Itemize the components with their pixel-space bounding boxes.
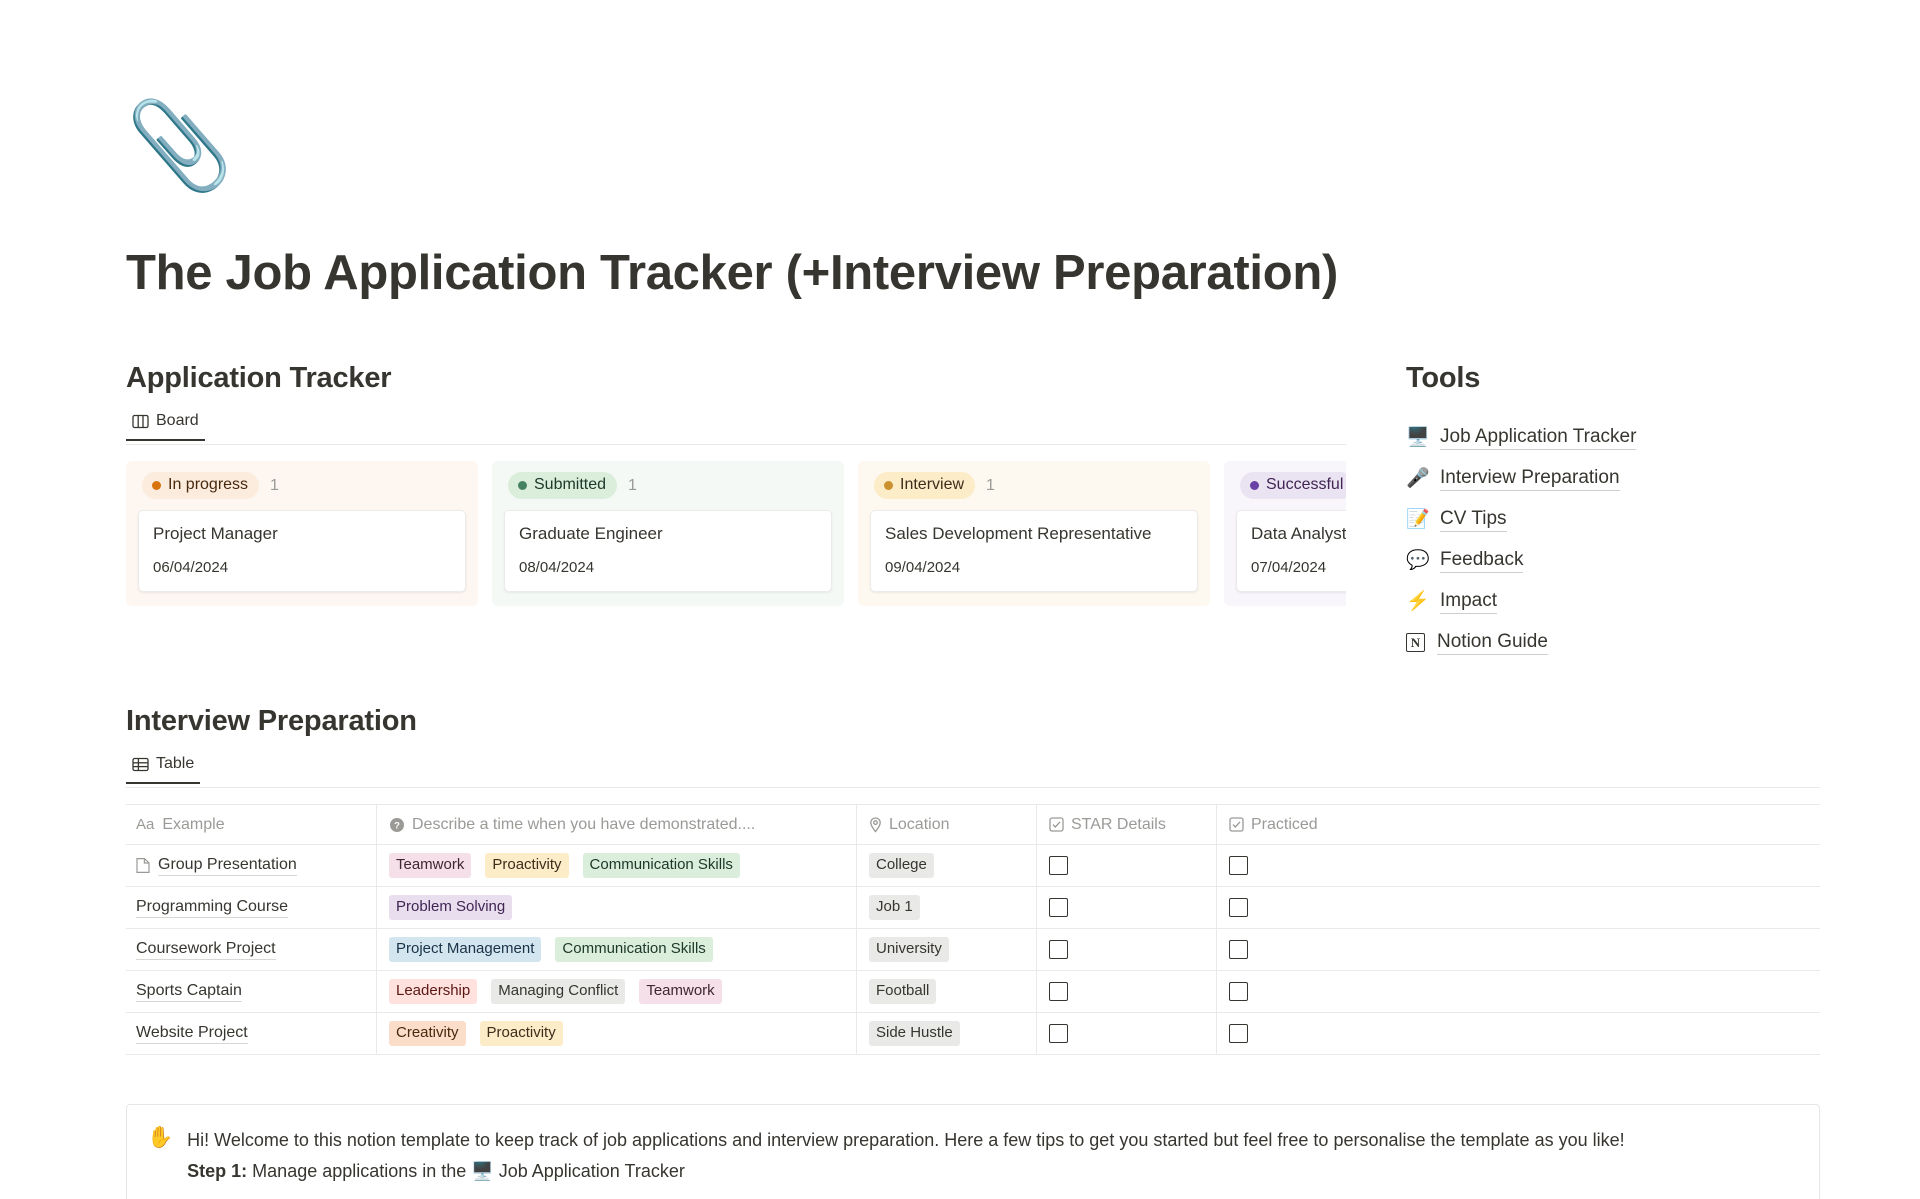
cell-star-details[interactable] [1036,887,1216,928]
speech-balloon-icon: 💬 [1406,551,1428,570]
column-header-describe-label: Describe a time when you have demonstrat… [412,816,755,834]
tab-table-label: Table [156,755,194,773]
table-row[interactable]: Website ProjectCreativityProactivitySide… [126,1013,1820,1055]
status-label: Successful [1266,475,1343,495]
cell-describe-tags[interactable]: LeadershipManaging ConflictTeamwork [376,971,856,1012]
lightning-icon: ⚡ [1406,592,1428,611]
tool-link-label: CV Tips [1440,508,1507,532]
interview-preparation-heading: Interview Preparation [126,705,1820,738]
checkbox[interactable] [1049,982,1068,1001]
location-tag: College [869,853,934,878]
interview-preparation-section: Interview Preparation Table Aa [126,705,1820,1055]
skill-tag: Teamwork [639,979,721,1004]
location-pin-icon [869,817,882,833]
status-badge: Interview [874,472,975,499]
cell-location[interactable]: College [856,845,1036,886]
application-tracker-heading: Application Tracker [126,362,1346,395]
skill-tag: Proactivity [480,1021,563,1046]
board-column[interactable]: In progress1Project Manager06/04/2024 [126,461,478,606]
checkbox[interactable] [1229,898,1248,917]
table-body: Group PresentationTeamworkProactivityCom… [126,845,1820,1055]
callout-text: Hi! Welcome to this notion template to k… [187,1125,1624,1187]
status-label: In progress [168,475,248,495]
cell-location[interactable]: University [856,929,1036,970]
interview-prep-table: Aa Example ? Describe a time when you ha… [126,804,1820,1055]
callout-step-line: Step 1: Manage applications in the 🖥️ Jo… [187,1156,1624,1187]
cell-describe-tags[interactable]: CreativityProactivity [376,1013,856,1054]
table-row[interactable]: Sports CaptainLeadershipManaging Conflic… [126,971,1820,1013]
status-dot-icon [152,481,161,490]
board-card-date: 09/04/2024 [885,559,1183,576]
column-header-location[interactable]: Location [856,805,1036,844]
tab-board-label: Board [156,412,199,430]
tools-section: Tools 🖥️Job Application Tracker🎤Intervie… [1406,362,1846,663]
tool-link-label: Impact [1440,590,1497,614]
board-column-count: 1 [628,477,637,495]
cell-example-label: Group Presentation [158,856,297,876]
cell-describe-tags[interactable]: TeamworkProactivityCommunication Skills [376,845,856,886]
callout-step-label: Step 1: [187,1161,247,1181]
column-header-location-label: Location [889,816,950,834]
cell-example[interactable]: Group Presentation [126,856,376,876]
cell-example[interactable]: Sports Captain [126,982,376,1002]
board-icon [132,414,149,429]
checkbox[interactable] [1049,856,1068,875]
tool-link-interview-preparation[interactable]: 🎤Interview Preparation [1406,458,1846,499]
checkbox[interactable] [1229,1024,1248,1043]
callout-paragraph: Hi! Welcome to this notion template to k… [187,1125,1624,1156]
checkbox[interactable] [1229,940,1248,959]
skill-tag: Communication Skills [555,937,712,962]
tool-link-notion-guide[interactable]: NNotion Guide [1406,622,1846,663]
checkbox-property-icon [1229,817,1244,832]
board-card[interactable]: Project Manager06/04/2024 [138,510,466,592]
board-card[interactable]: Sales Development Representative09/04/20… [870,510,1198,592]
raised-hand-icon: ✋ [147,1125,173,1187]
status-badge: Successful [1240,472,1346,499]
document-icon [136,857,150,874]
page-icon-paperclip-icon[interactable]: 📎 [126,103,233,189]
cell-describe-tags[interactable]: Problem Solving [376,887,856,928]
cell-example-label: Website Project [136,1024,248,1044]
board-column[interactable]: SuccessfulData Analyst07/04/2024 [1224,461,1346,606]
cell-practiced[interactable] [1216,1013,1820,1054]
tool-link-impact[interactable]: ⚡Impact [1406,581,1846,622]
column-header-example-label: Example [162,816,224,834]
checkbox[interactable] [1049,1024,1068,1043]
welcome-callout: ✋ Hi! Welcome to this notion template to… [126,1104,1820,1199]
column-header-example[interactable]: Aa Example [126,805,376,844]
cell-example-label: Sports Captain [136,982,242,1002]
microphone-icon: 🎤 [1406,469,1428,488]
status-badge: Submitted [508,472,617,499]
board-card-date: 07/04/2024 [1251,559,1346,576]
tab-board[interactable]: Board [126,412,205,441]
status-label: Interview [900,475,964,495]
column-header-practiced-label: Practiced [1251,816,1318,834]
tool-link-label: Job Application Tracker [1440,426,1636,450]
checkbox[interactable] [1229,856,1248,875]
svg-text:?: ? [394,820,400,831]
board-card-title: Graduate Engineer [519,523,817,545]
memo-icon: 📝 [1406,510,1428,529]
location-tag: Job 1 [869,895,920,920]
location-tag: Side Hustle [869,1021,960,1046]
cell-example-label: Programming Course [136,898,288,918]
status-label: Submitted [534,475,606,495]
cell-example-label: Coursework Project [136,940,276,960]
skill-tag: Proactivity [485,853,568,878]
status-badge: In progress [142,472,259,499]
column-header-star-details-label: STAR Details [1071,816,1166,834]
skill-tag: Leadership [389,979,477,1004]
aa-icon: Aa [136,816,154,833]
skill-tag: Teamwork [389,853,471,878]
tools-heading: Tools [1406,362,1846,395]
board-column[interactable]: Interview1Sales Development Representati… [858,461,1210,606]
cell-star-details[interactable] [1036,971,1216,1012]
cell-location[interactable]: Side Hustle [856,1013,1036,1054]
callout-step-text: Manage applications in the 🖥️ Job Applic… [247,1161,685,1181]
cell-star-details[interactable] [1036,845,1216,886]
board-column-header[interactable]: Successful [1224,461,1346,510]
board-column-count: 1 [986,477,995,495]
tool-link-label: Notion Guide [1437,631,1548,655]
checkbox-property-icon [1049,817,1064,832]
table-header-row: Aa Example ? Describe a time when you ha… [126,805,1820,845]
skill-tag: Managing Conflict [491,979,625,1004]
tool-link-label: Feedback [1440,549,1523,573]
tool-link-label: Interview Preparation [1440,467,1620,491]
column-header-star-details[interactable]: STAR Details [1036,805,1216,844]
skill-tag: Communication Skills [583,853,740,878]
tool-link-cv-tips[interactable]: 📝CV Tips [1406,499,1846,540]
table-row[interactable]: Coursework ProjectProject ManagementComm… [126,929,1820,971]
question-bubble-icon: ? [389,817,405,833]
status-dot-icon [884,481,893,490]
cell-describe-tags[interactable]: Project ManagementCommunication Skills [376,929,856,970]
board-card[interactable]: Data Analyst07/04/2024 [1236,510,1346,592]
cell-practiced[interactable] [1216,971,1820,1012]
board-column-header[interactable]: Interview1 [858,461,1210,510]
column-header-describe[interactable]: ? Describe a time when you have demonstr… [376,805,856,844]
location-tag: University [869,937,949,962]
column-header-practiced[interactable]: Practiced [1216,805,1820,844]
tool-link-job-application-tracker[interactable]: 🖥️Job Application Tracker [1406,417,1846,458]
cell-star-details[interactable] [1036,1013,1216,1054]
desktop-computer-icon: 🖥️ [1406,428,1428,447]
board-card-date: 08/04/2024 [519,559,817,576]
checkbox[interactable] [1049,940,1068,959]
board-card-title: Project Manager [153,523,451,545]
skill-tag: Project Management [389,937,541,962]
cell-example[interactable]: Coursework Project [126,940,376,960]
kanban-board[interactable]: In progress1Project Manager06/04/2024Sub… [126,461,1346,606]
tool-link-feedback[interactable]: 💬Feedback [1406,540,1846,581]
tab-table[interactable]: Table [126,755,200,784]
cell-example[interactable]: Website Project [126,1024,376,1044]
status-dot-icon [1250,481,1259,490]
table-icon [132,757,149,772]
table-row[interactable]: Group PresentationTeamworkProactivityCom… [126,845,1820,887]
cell-star-details[interactable] [1036,929,1216,970]
skill-tag: Creativity [389,1021,466,1046]
board-card-title: Data Analyst [1251,523,1346,545]
table-tabbar: Table [126,755,1820,788]
board-card[interactable]: Graduate Engineer08/04/2024 [504,510,832,592]
status-dot-icon [518,481,527,490]
cell-location[interactable]: Football [856,971,1036,1012]
skill-tag: Problem Solving [389,895,512,920]
cell-practiced[interactable] [1216,929,1820,970]
application-tracker-section: Application Tracker Board In progress1Pr… [126,362,1346,606]
board-tabbar: Board [126,412,1346,445]
notion-page: 📎 The Job Application Tracker (+Intervie… [0,0,1920,1199]
board-column[interactable]: Submitted1Graduate Engineer08/04/2024 [492,461,844,606]
table-row[interactable]: Programming CourseProblem SolvingJob 1 [126,887,1820,929]
board-card-title: Sales Development Representative [885,523,1183,545]
cell-practiced[interactable] [1216,887,1820,928]
board-column-header[interactable]: In progress1 [126,461,478,510]
cell-example[interactable]: Programming Course [126,898,376,918]
location-tag: Football [869,979,936,1004]
notion-logo-icon: N [1406,633,1425,652]
page-title: The Job Application Tracker (+Interview … [126,245,1338,301]
cell-practiced[interactable] [1216,845,1820,886]
board-column-header[interactable]: Submitted1 [492,461,844,510]
board-card-date: 06/04/2024 [153,559,451,576]
tools-list: 🖥️Job Application Tracker🎤Interview Prep… [1406,417,1846,663]
checkbox[interactable] [1049,898,1068,917]
cell-location[interactable]: Job 1 [856,887,1036,928]
checkbox[interactable] [1229,982,1248,1001]
board-column-count: 1 [270,477,279,495]
